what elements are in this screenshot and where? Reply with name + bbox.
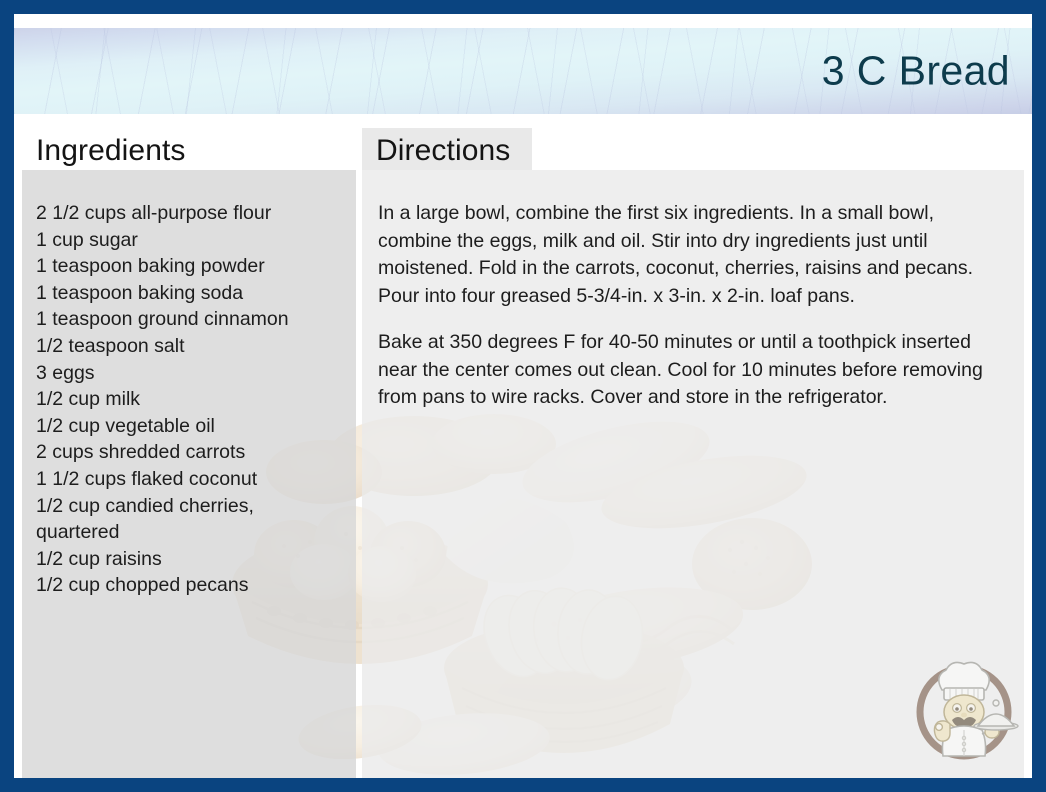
directions-heading: Directions [376, 134, 510, 168]
list-item: quartered [36, 519, 344, 546]
list-item: 1/2 cup raisins [36, 546, 344, 573]
recipe-card: 3 C Bread [0, 0, 1046, 792]
header-banner: 3 C Bread [14, 28, 1032, 114]
direction-step: Bake at 350 degrees F for 40-50 minutes … [378, 329, 1006, 412]
list-item: 1 1/2 cups flaked coconut [36, 466, 344, 493]
list-item: 1/2 cup vegetable oil [36, 413, 344, 440]
list-item: 1 teaspoon baking soda [36, 280, 344, 307]
list-item: 3 eggs [36, 360, 344, 387]
list-item: 1/2 cup milk [36, 386, 344, 413]
ingredients-tab: Ingredients [22, 128, 356, 170]
list-item: 2 1/2 cups all-purpose flour [36, 200, 344, 227]
list-item: 1/2 cup candied cherries, [36, 493, 344, 520]
ingredients-panel: Ingredients 2 1/2 cups all-purpose flour… [22, 128, 356, 778]
list-item: 1 teaspoon ground cinnamon [36, 306, 344, 333]
directions-panel: Directions In a large bowl, combine the … [362, 128, 1024, 778]
list-item: 1 cup sugar [36, 227, 344, 254]
ingredients-heading: Ingredients [36, 134, 186, 168]
page-canvas: 3 C Bread [14, 14, 1032, 778]
direction-step: In a large bowl, combine the first six i… [378, 200, 1006, 310]
list-item: 1/2 teaspoon salt [36, 333, 344, 360]
directions-tab: Directions [362, 128, 532, 170]
list-item: 2 cups shredded carrots [36, 439, 344, 466]
list-item: 1 teaspoon baking powder [36, 253, 344, 280]
list-item: 1/2 cup chopped pecans [36, 572, 344, 599]
directions-text: In a large bowl, combine the first six i… [362, 170, 1024, 778]
ingredients-list: 2 1/2 cups all-purpose flour 1 cup sugar… [22, 170, 356, 778]
page-title: 3 C Bread [822, 48, 1010, 95]
